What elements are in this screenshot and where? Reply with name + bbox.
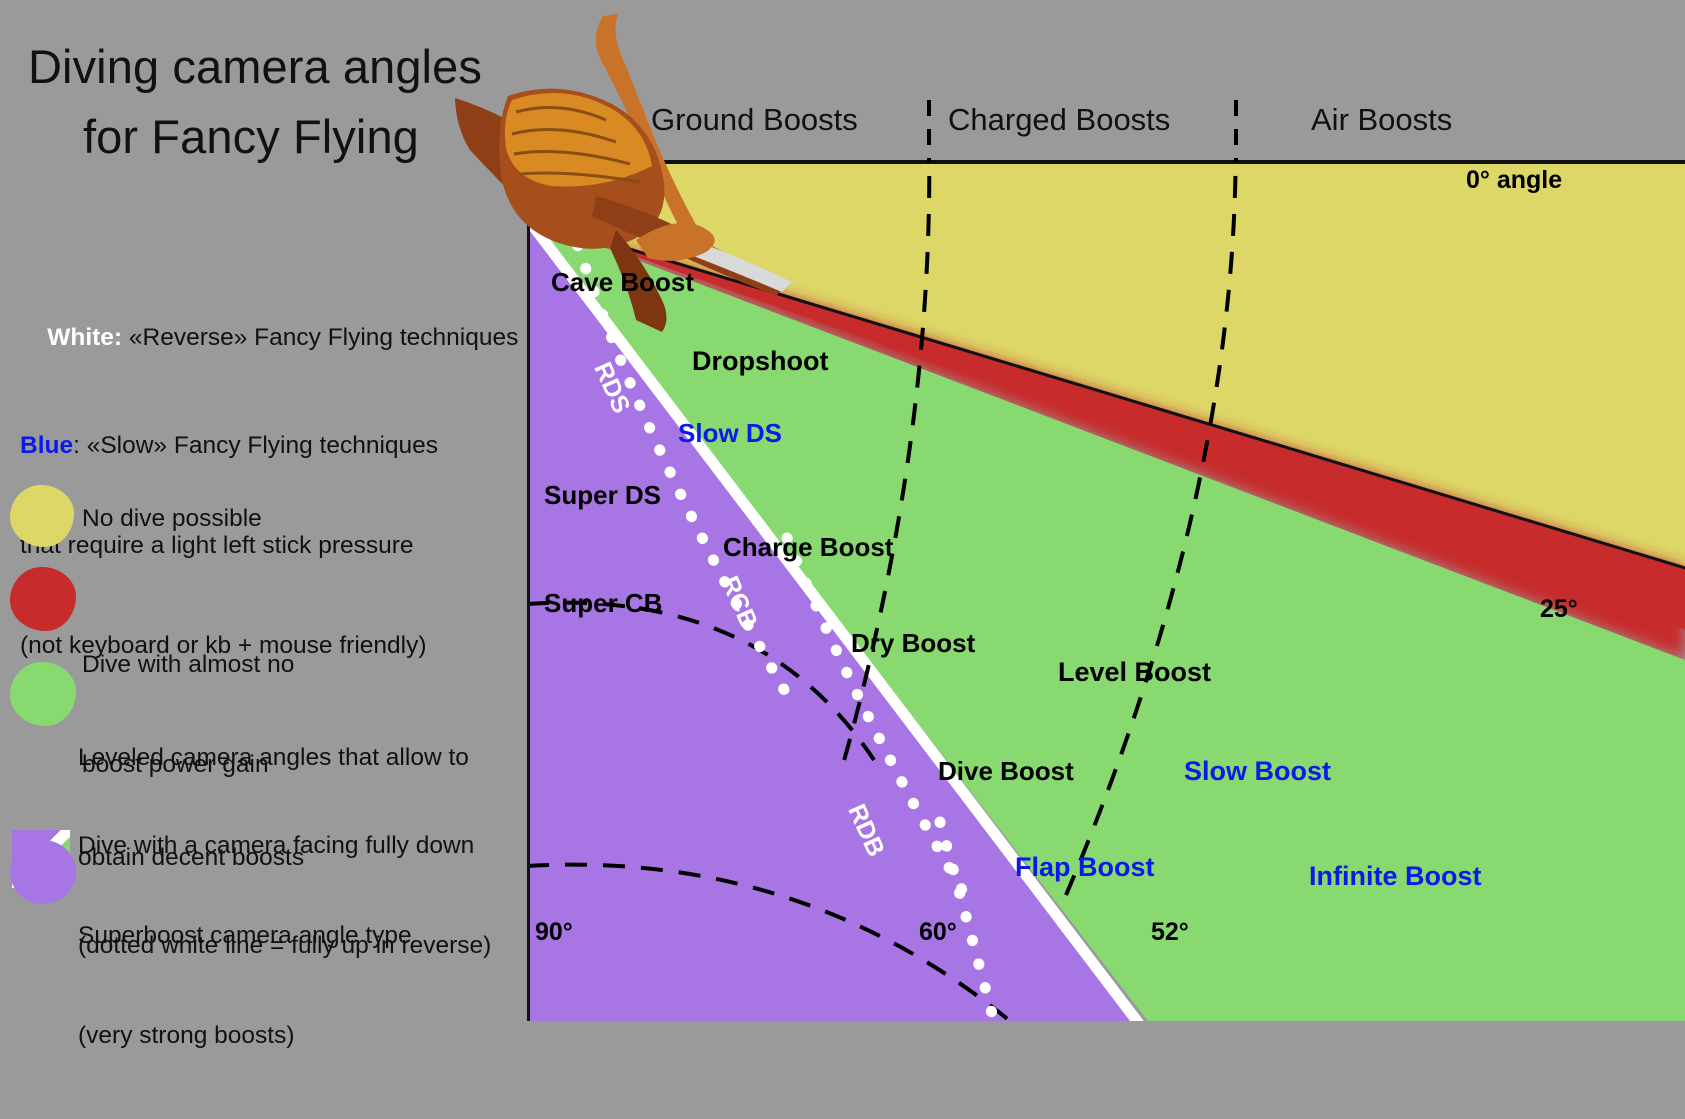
- axis-label-25deg: 25°: [1540, 595, 1578, 624]
- legend-swatch-leveled: [10, 662, 76, 726]
- region-label-cave-boost: Cave Boost: [551, 267, 694, 298]
- region-label-charge-boost: Charge Boost: [723, 532, 893, 563]
- page-title-line1: Diving camera angles: [28, 42, 482, 93]
- page-title-line2: for Fancy Flying: [83, 112, 419, 163]
- legend-swatch-no-dive: [10, 485, 74, 547]
- legend-swatch-superboost: [10, 840, 76, 904]
- region-label-flap-boost: Flap Boost: [1015, 852, 1155, 883]
- note-white-text: «Reverse» Fancy Flying techniques: [122, 324, 518, 351]
- column-header-ground: Ground Boosts: [651, 102, 858, 138]
- region-label-slow-boost: Slow Boost: [1184, 756, 1331, 787]
- region-label-infinite-boost: Infinite Boost: [1309, 861, 1481, 892]
- region-label-level-boost: Level Boost: [1058, 657, 1211, 688]
- column-header-charged: Charged Boosts: [948, 102, 1170, 138]
- legend-label-superboost-2: (very strong boosts): [78, 1019, 412, 1052]
- region-label-super-cb: Super CB: [544, 588, 662, 619]
- axis-label-90deg: 90°: [535, 918, 573, 947]
- region-label-dry-boost: Dry Boost: [851, 628, 975, 659]
- region-label-super-ds: Super DS: [544, 480, 661, 511]
- legend-label-superboost: Superboost camera angle type (very stron…: [78, 852, 412, 1119]
- legend-swatch-low-gain: [10, 567, 76, 631]
- axis-label-60deg: 60°: [919, 918, 957, 947]
- note-white-key: White:: [47, 324, 122, 351]
- region-label-dropshoot: Dropshoot: [692, 346, 828, 377]
- note-blue-key: Blue: [20, 432, 73, 459]
- infographic-canvas: Diving camera angles for Fancy Flying Wh…: [0, 0, 1685, 1021]
- legend-label-superboost-1: Superboost camera angle type: [78, 919, 412, 952]
- note-blue-text-1: : «Slow» Fancy Flying techniques: [73, 432, 438, 459]
- column-header-air: Air Boosts: [1311, 102, 1452, 138]
- legend-label-no-dive: No dive possible: [82, 502, 262, 535]
- axis-label-52deg: 52°: [1151, 918, 1189, 947]
- axis-label-0deg: 0° angle: [1466, 166, 1562, 195]
- region-label-dive-boost: Dive Boost: [938, 756, 1074, 787]
- region-label-slow-ds: Slow DS: [678, 418, 782, 449]
